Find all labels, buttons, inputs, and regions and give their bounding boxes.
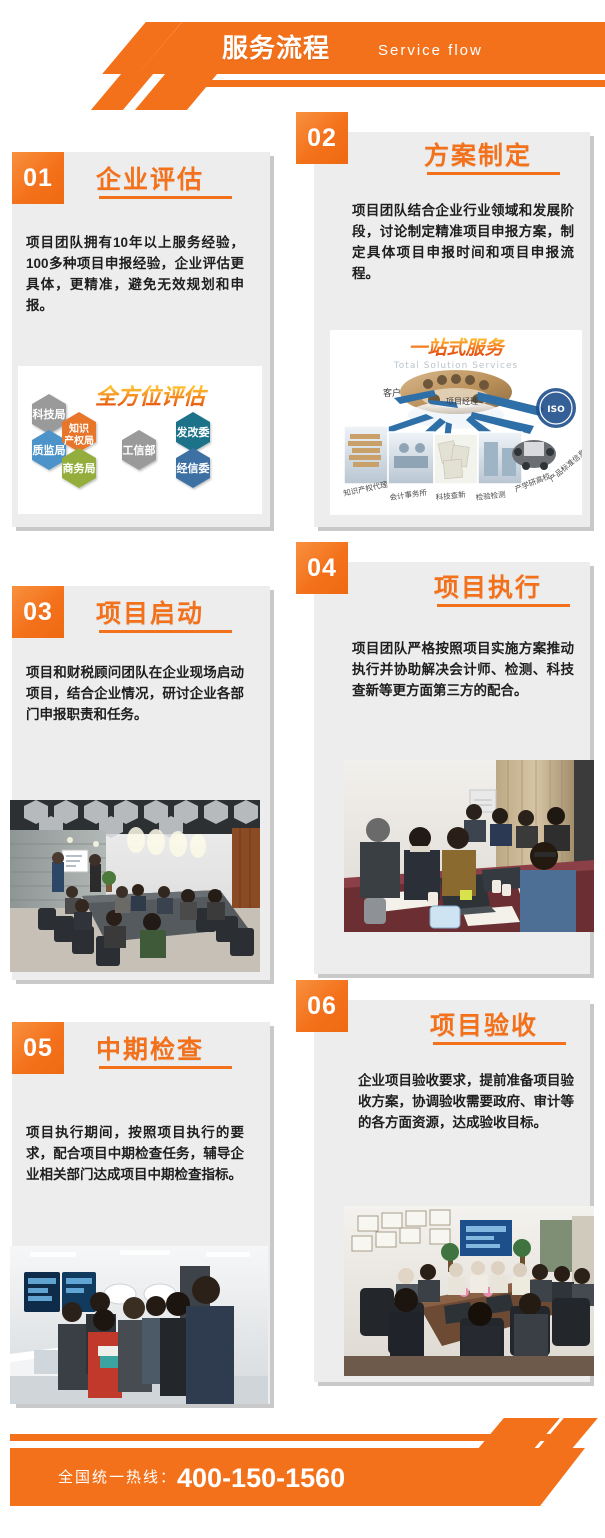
header-banner <box>138 22 605 74</box>
svg-text:知识: 知识 <box>68 422 89 435</box>
card-02-media-one-stop-diagram: 一站式服务 Total Solution Services <box>330 330 582 515</box>
page-header: 服务流程 Service flow <box>0 0 605 110</box>
hotline-label: 全国统一热线： <box>58 1469 177 1486</box>
card-01-number-badge: 01 <box>12 152 64 204</box>
svg-text:经信委: 经信委 <box>177 461 211 475</box>
card-03-title: 项目启动 <box>96 594 204 630</box>
card-02-title: 方案制定 <box>424 136 532 172</box>
svg-text:一站式服务: 一站式服务 <box>408 337 506 359</box>
svg-text:发改委: 发改委 <box>176 425 211 439</box>
svg-text:商务局: 商务局 <box>63 461 96 475</box>
card-05-title-rule <box>99 1066 232 1069</box>
card-04-body: 项目团队严格按照项目实施方案推动执行并协助解决会计师、检测、科技查新等更方面第三… <box>352 638 574 701</box>
card-05-body: 项目执行期间，按照项目执行的要求，配合项目中期检查任务，辅导企业相关部门达成项目… <box>26 1122 244 1185</box>
card-04-number-badge: 04 <box>296 542 348 594</box>
card-03-body: 项目和财税顾问团队在企业现场启动项目，结合企业情况，研讨企业各部门申报职责和任务… <box>26 662 244 725</box>
svg-text:客户: 客户 <box>383 387 401 399</box>
card-06-photo-acceptance-meeting <box>344 1206 594 1376</box>
svg-text:工信部: 工信部 <box>123 443 156 457</box>
svg-text:ISO: ISO <box>547 405 565 415</box>
card-06-title-rule <box>433 1042 566 1045</box>
card-04-title: 项目执行 <box>434 568 542 604</box>
card-04-photo-team-working <box>344 760 594 932</box>
card-05-title: 中期检查 <box>96 1030 204 1066</box>
service-flow-poster: 服务流程 Service flow 01 企业评估 项目团队拥有10年以上服务经… <box>0 0 605 1538</box>
card-06-title: 项目验收 <box>430 1006 538 1042</box>
card-06-body: 企业项目验收要求，提前准备项目验收方案，协调验收需要政府、审计等的各方面资源，达… <box>358 1070 574 1133</box>
svg-text:项目经理: 项目经理 <box>446 396 478 406</box>
svg-text:产权局: 产权局 <box>64 434 94 447</box>
card-03-title-rule <box>99 630 232 633</box>
card-04-title-rule <box>437 604 570 607</box>
page-title: 服务流程 <box>222 30 330 66</box>
header-underline-stripe <box>186 80 605 87</box>
footer-stripe <box>10 1434 585 1441</box>
page-subtitle: Service flow <box>378 38 483 64</box>
card-05-number-badge: 05 <box>12 1022 64 1074</box>
hotline: 全国统一热线：400-150-1560 <box>58 1462 345 1494</box>
svg-text:Total Solution Services: Total Solution Services <box>393 361 518 371</box>
card-01-body: 项目团队拥有10年以上服务经验，100多种项目申报经验，企业评估更具体，更精准，… <box>26 232 244 316</box>
card-02-body: 项目团队结合企业行业领域和发展阶段，讨论制定精准项目申报方案，制定具体项目申报时… <box>352 200 574 284</box>
hotline-number: 400-150-1560 <box>177 1463 345 1493</box>
card-02-title-rule <box>427 172 560 175</box>
svg-text:全方位评估: 全方位评估 <box>95 384 209 410</box>
card-03-number-badge: 03 <box>12 586 64 638</box>
svg-text:科技局: 科技局 <box>33 407 66 421</box>
svg-text:质监局: 质监局 <box>33 443 66 457</box>
card-01-title-rule <box>99 196 232 199</box>
card-05-photo-showroom-visit <box>10 1246 268 1404</box>
card-01-media-hex-infographic: 科技局 质监局 知识 产权局 商务局 工信部 发改委 经信委 全方位评估 <box>18 366 262 514</box>
card-03-photo-conference-room <box>10 800 260 972</box>
card-06-number-badge: 06 <box>296 980 348 1032</box>
card-02-number-badge: 02 <box>296 112 348 164</box>
card-01-title: 企业评估 <box>96 160 204 196</box>
